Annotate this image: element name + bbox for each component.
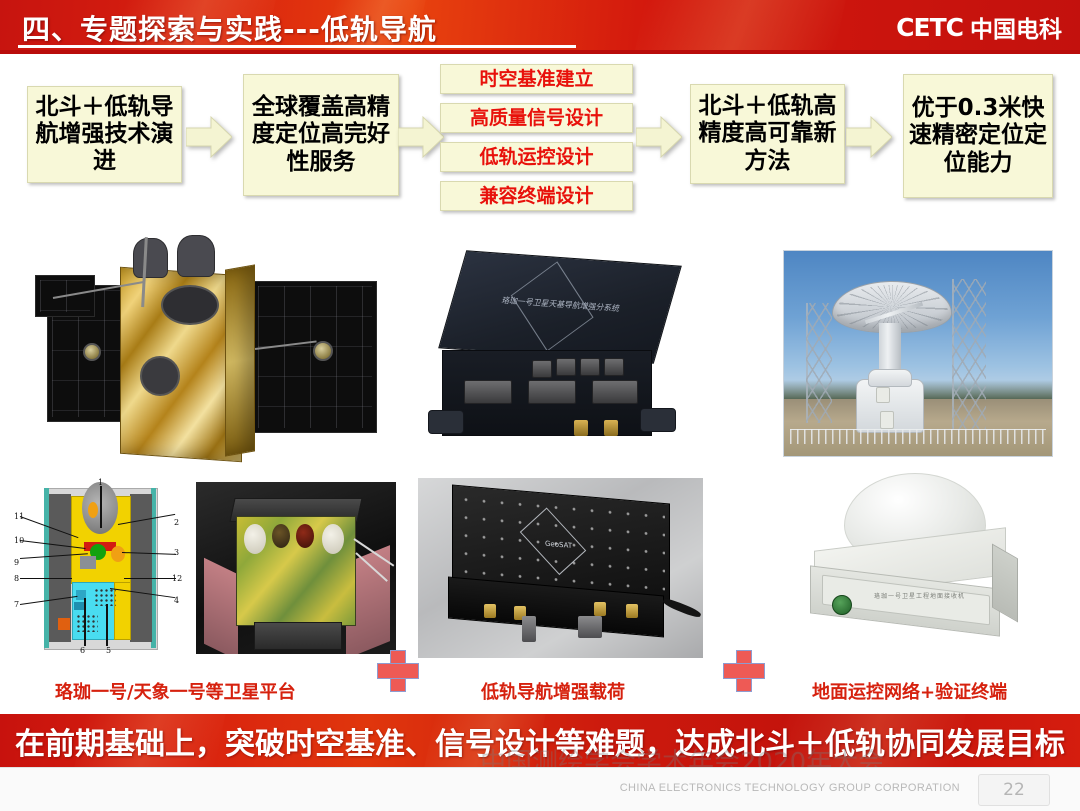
- low-orbit-payload-black-box-photo: GeoSAT: [418, 478, 703, 658]
- top-connector-1: [532, 360, 552, 378]
- flow-box-capability: 优于0.3米快速精密定位定位能力: [903, 74, 1053, 198]
- cad-connector-array-2: [76, 614, 98, 632]
- bus-aperture-right: [322, 524, 344, 554]
- cad-callout-3: 3: [174, 548, 179, 557]
- bus-stand-left: [204, 558, 238, 654]
- top-connector-3: [580, 358, 600, 376]
- top-connector-2: [556, 358, 576, 376]
- bus-aperture-left: [244, 524, 266, 554]
- verification-terminal-with-dome-photo: 珞珈一号卫星工程地面接收机: [780, 473, 1070, 658]
- plus-icon: [377, 650, 417, 690]
- cad-callout-11: 11: [14, 512, 24, 521]
- panel-hub-right: [313, 341, 333, 361]
- bottom-banner: 在前期基础上，突破时空基准、信号设计等难题，达成北斗＋低轨协同发展目标: [0, 714, 1080, 767]
- payload-mount-left: [428, 410, 464, 434]
- slide-root: 四、专题探索与实践---低轨导航 CETC 中国电科 北斗＋低轨导航增强技术演进…: [0, 0, 1080, 810]
- cad-callout-12: 12: [172, 574, 182, 583]
- flow-box-coverage: 全球覆盖高精度定位高完好性服务: [243, 74, 399, 196]
- bus-aperture-mid-right: [296, 524, 314, 548]
- aperture-lower: [140, 356, 180, 396]
- right-arrow-icon: [398, 115, 444, 159]
- flow-stack-item-1: 高质量信号设计: [440, 103, 633, 133]
- cad-callout-5: 5: [106, 646, 111, 655]
- right-arrow-icon: [636, 115, 682, 159]
- cad-connector-array-1: [94, 588, 116, 606]
- lattice-tower-left: [806, 303, 832, 423]
- payload-lid: 珞珈一号卫星天基导航增强分系统: [438, 250, 682, 363]
- dish-turntable: [868, 369, 912, 387]
- lattice-tower-right: [952, 279, 986, 429]
- caption-satellite-platform: 珞珈一号/天象一号等卫星平台: [55, 678, 296, 704]
- page-title: 四、专题探索与实践---低轨导航: [22, 8, 437, 48]
- sma-connector-1: [484, 604, 496, 618]
- header-streak-3: [634, 0, 845, 54]
- satellite-internal-cad-diagram: 1 2 3 4 5 6 7 8 9 10 11 12: [14, 478, 186, 658]
- satellite-gold-foil-image: [25, 233, 410, 473]
- cad-callout-10: 10: [14, 536, 24, 545]
- aperture-upper: [161, 285, 219, 325]
- sensor-barrel-left: [133, 238, 168, 278]
- page-number-badge: 22: [978, 774, 1050, 806]
- cad-tank-port: [88, 502, 98, 518]
- cable-adapter-1: [522, 616, 536, 642]
- title-underline: [18, 45, 576, 48]
- flow-stack-item-3: 兼容终端设计: [440, 181, 633, 211]
- flow-box-evolution: 北斗＋低轨导航增强技术演进: [27, 86, 182, 183]
- building-window-2: [880, 411, 894, 429]
- navigation-payload-box-image: 珞珈一号卫星天基导航增强分系统: [428, 250, 693, 468]
- cad-callout-1: 1: [98, 478, 103, 487]
- bus-base-plate: [254, 622, 342, 650]
- flow-diagram: 北斗＋低轨导航增强技术演进 全球覆盖高精度定位高完好性服务 时空基准建立 高质量…: [0, 58, 1080, 233]
- right-arrow-icon: [846, 115, 892, 159]
- header-banner: 四、专题探索与实践---低轨导航 CETC 中国电科: [0, 0, 1080, 54]
- top-connector-4: [604, 358, 624, 376]
- cad-chip-3: [58, 618, 70, 630]
- cad-callout-8: 8: [14, 574, 19, 583]
- cad-callout-4: 4: [174, 596, 179, 605]
- footer: CHINA ELECTRONICS TECHNOLOGY GROUP CORPO…: [0, 767, 1080, 811]
- cad-leader-5: [106, 604, 108, 646]
- panel-hub-left: [83, 343, 101, 361]
- cad-leader-1: [100, 486, 102, 528]
- d-sub-connector-3: [592, 380, 638, 404]
- cad-orange-ring: [111, 546, 125, 562]
- rf-connector-1: [574, 420, 588, 436]
- cad-leader-12: [124, 578, 176, 579]
- cad-unit-grey: [80, 556, 96, 569]
- ground-station-dish-antenna-photo: [783, 250, 1053, 457]
- power-connector-knob: [832, 595, 852, 615]
- sma-connector-3: [594, 602, 606, 616]
- plus-icon: [723, 650, 763, 690]
- cad-callout-7: 7: [14, 600, 19, 609]
- flow-stack-group: 时空基准建立 高质量信号设计 低轨运控设计 兼容终端设计: [440, 64, 633, 220]
- cad-leader-8: [20, 578, 72, 579]
- bus-aperture-mid-left: [272, 524, 290, 548]
- cad-leader-6: [84, 598, 86, 646]
- perimeter-fence: [790, 429, 1046, 444]
- flow-box-method: 北斗＋低轨高精度高可靠新方法: [690, 84, 845, 184]
- rf-connector-2: [604, 420, 618, 436]
- cad-callout-9: 9: [14, 558, 19, 567]
- photo-area: 珞珈一号卫星天基导航增强分系统: [0, 228, 1080, 678]
- d-sub-connector-1: [464, 380, 512, 404]
- satellite-bus-assembly-photo: [196, 482, 396, 654]
- sensor-barrel-right: [177, 235, 215, 277]
- cad-callout-6: 6: [80, 646, 85, 655]
- caption-payload: 低轨导航增强载荷: [481, 678, 625, 704]
- footer-corporation-text: CHINA ELECTRONICS TECHNOLOGY GROUP CORPO…: [620, 782, 960, 794]
- cad-panel-right: [130, 494, 152, 642]
- flow-stack-item-2: 低轨运控设计: [440, 142, 633, 172]
- cable-adapter-2: [578, 616, 602, 638]
- right-arrow-icon: [186, 115, 232, 159]
- bottom-banner-text: 在前期基础上，突破时空基准、信号设计等难题，达成北斗＋低轨协同发展目标: [15, 719, 1065, 763]
- d-sub-connector-2: [528, 380, 576, 404]
- sma-connector-4: [626, 604, 638, 618]
- cetc-logo-cn: 中国电科: [970, 10, 1062, 44]
- cad-callout-2: 2: [174, 518, 179, 527]
- payload-mount-right: [640, 408, 676, 432]
- cetc-logo-en: CETC: [896, 13, 963, 42]
- building-window-1: [876, 387, 890, 403]
- flow-stack-item-0: 时空基准建立: [440, 64, 633, 94]
- cetc-logo: CETC 中国电科: [896, 10, 1062, 44]
- caption-ground-network: 地面运控网络+验证终端: [812, 678, 1007, 704]
- satellite-body-side: [225, 264, 255, 456]
- terminal-label-text: 珞珈一号卫星工程地面接收机: [874, 591, 965, 600]
